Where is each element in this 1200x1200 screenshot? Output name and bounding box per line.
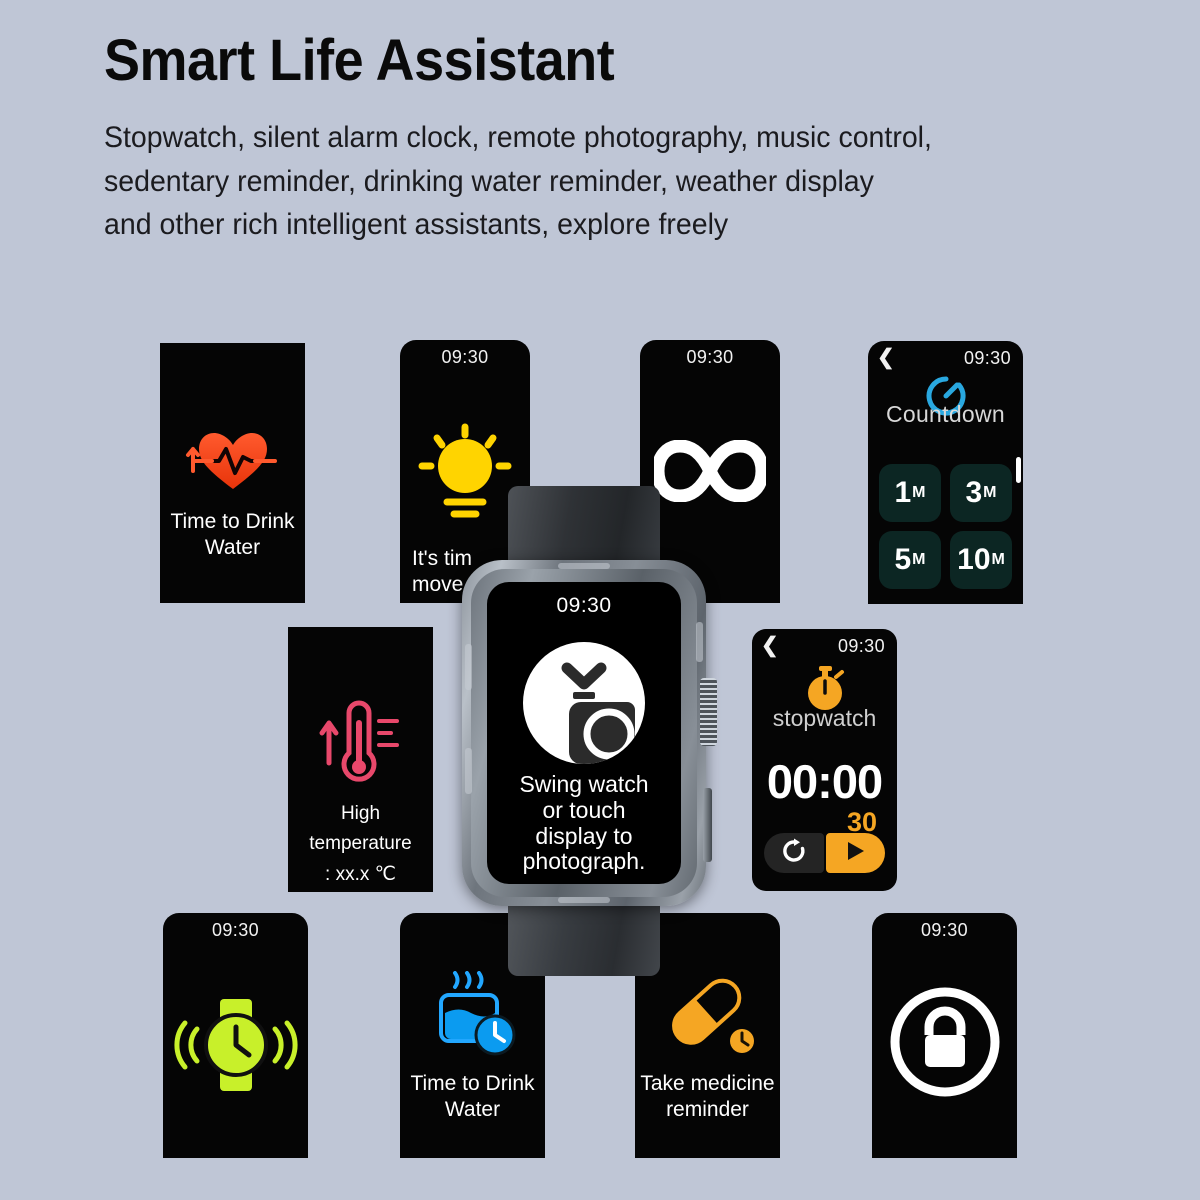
countdown-option-5m[interactable]: 5M <box>879 531 941 589</box>
case-notch <box>465 644 472 690</box>
case-notch <box>465 748 472 794</box>
screen-caption: Take medicine reminder <box>635 1071 780 1124</box>
camera-watch-icon <box>523 642 645 764</box>
screen-countdown: ❮ 09:30 Countdown 1M 3M 5M 10M <box>868 341 1023 604</box>
watch-case: 09:30 Swing watch or touch display to ph… <box>462 560 706 906</box>
heart-pulse-icon <box>160 421 305 495</box>
stopwatch-controls <box>764 833 885 873</box>
reset-icon <box>781 838 807 869</box>
option-value: 3 <box>965 476 982 510</box>
status-time: 09:30 <box>163 920 308 941</box>
status-time: 09:30 <box>640 347 780 368</box>
screen-stopwatch: ❮ 09:30 stopwatch 00:00 30 <box>752 629 897 891</box>
option-unit: M <box>983 484 996 502</box>
caption-line: Water <box>400 1097 545 1123</box>
status-time: 09:30 <box>964 348 1011 369</box>
status-time: 09:30 <box>872 920 1017 941</box>
status-time: 09:30 <box>487 594 681 618</box>
play-icon <box>843 839 867 868</box>
countdown-option-3m[interactable]: 3M <box>950 464 1012 522</box>
lock-icon <box>872 983 1017 1101</box>
crown-dial[interactable] <box>700 678 717 746</box>
screen-drink-water-heart: Time to Drink Water <box>160 343 305 603</box>
stopwatch-label: stopwatch <box>752 705 897 732</box>
water-cup-clock-icon <box>400 971 545 1063</box>
caption-line: Time to Drink <box>400 1071 545 1097</box>
case-notch <box>696 622 703 662</box>
pill-capsule-icon <box>635 971 780 1061</box>
caption-line: or touch <box>491 798 677 824</box>
side-button[interactable] <box>703 788 712 862</box>
countdown-option-1m[interactable]: 1M <box>879 464 941 522</box>
option-value: 10 <box>957 543 990 577</box>
caption-line: display to <box>491 824 677 850</box>
thermometer-icon <box>288 693 433 791</box>
option-value: 1 <box>894 476 911 510</box>
option-unit: M <box>912 551 925 569</box>
subtitle-line-1: Stopwatch, silent alarm clock, remote ph… <box>104 116 1073 160</box>
subtitle-line-2: sedentary reminder, drinking water remin… <box>104 160 1073 204</box>
subtitle-line-3: and other rich intelligent assistants, e… <box>104 203 1073 247</box>
screen-high-temperature: High temperature : xx.x ℃ <box>288 627 433 892</box>
caption-line: Swing watch <box>491 772 677 798</box>
caption-line: reminder <box>635 1097 780 1123</box>
option-unit: M <box>912 484 925 502</box>
caption-line: High temperature <box>288 799 433 860</box>
case-notch <box>558 897 610 903</box>
watch-display[interactable]: 09:30 Swing watch or touch display to ph… <box>487 582 681 884</box>
case-notch <box>558 563 610 569</box>
screen-caption: High temperature : xx.x ℃ <box>288 799 433 890</box>
status-time: 09:30 <box>838 636 885 657</box>
option-value: 5 <box>894 543 911 577</box>
vibrating-watch-icon <box>163 993 308 1097</box>
smartwatch-device: 09:30 Swing watch or touch display to ph… <box>452 486 716 976</box>
header-block: Smart Life Assistant Stopwatch, silent a… <box>104 32 1124 247</box>
play-button[interactable] <box>826 833 886 873</box>
screen-silent-alarm: 09:30 <box>163 913 308 1158</box>
screen-lock: 09:30 <box>872 913 1017 1158</box>
chevron-left-icon[interactable]: ❮ <box>877 347 895 368</box>
option-unit: M <box>992 551 1005 569</box>
caption-line: Take medicine <box>635 1071 780 1097</box>
status-time: 09:30 <box>400 347 530 368</box>
scroll-indicator[interactable] <box>1016 457 1021 483</box>
reset-button[interactable] <box>764 833 824 873</box>
product-feature-page: Smart Life Assistant Stopwatch, silent a… <box>0 0 1200 1200</box>
page-subtitle: Stopwatch, silent alarm clock, remote ph… <box>104 116 1073 247</box>
caption-line: photograph. <box>491 849 677 875</box>
countdown-option-10m[interactable]: 10M <box>950 531 1012 589</box>
watch-caption: Swing watch or touch display to photogra… <box>491 772 677 875</box>
page-title: Smart Life Assistant <box>104 32 1053 90</box>
caption-line: Water <box>160 535 305 561</box>
chevron-left-icon[interactable]: ❮ <box>761 635 779 656</box>
stopwatch-elapsed: 00:00 <box>752 754 897 809</box>
caption-line: : xx.x ℃ <box>288 860 433 890</box>
countdown-options: 1M 3M 5M 10M <box>879 464 1012 589</box>
screen-caption: Time to Drink Water <box>160 509 305 562</box>
screen-caption: Time to Drink Water <box>400 1071 545 1124</box>
countdown-label: Countdown <box>868 401 1023 428</box>
caption-line: Time to Drink <box>160 509 305 535</box>
